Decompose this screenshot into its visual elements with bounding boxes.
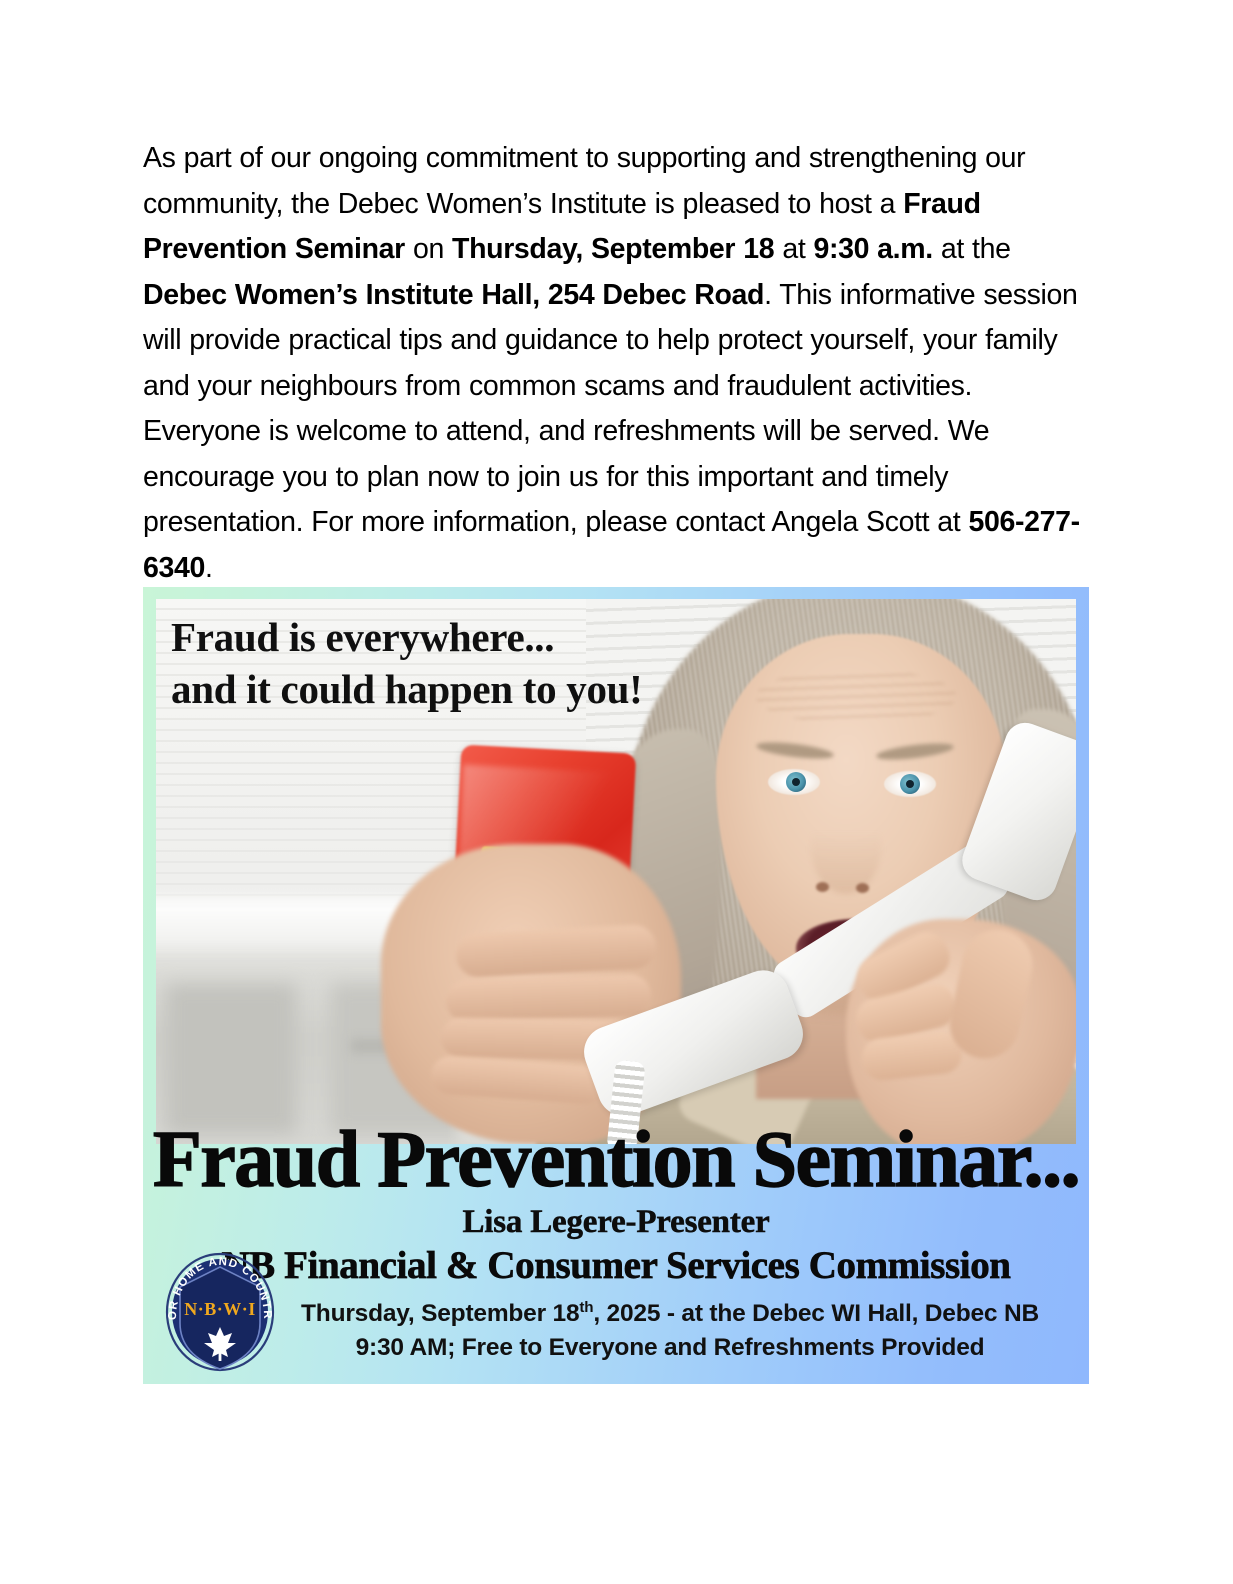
logo-initials: N·B·W·I	[184, 1299, 256, 1319]
poster-event-time-line: 9:30 AM; Free to Everyone and Refreshmen…	[251, 1331, 1089, 1365]
announcement-segment-6: at the	[933, 233, 1011, 265]
poster-presenter: Lisa Legere-Presenter	[143, 1202, 1089, 1242]
pupil-right	[906, 780, 914, 788]
announcement-segment-4: at	[774, 233, 813, 265]
poster-event-date-pre: Thursday, September 18	[301, 1300, 579, 1327]
nbwi-logo: FOR HOME AND COUNTRY N·B·W·I	[164, 1251, 276, 1373]
announcement-segment-7: Debec Women’s Institute Hall, 254 Debec …	[143, 279, 764, 311]
poster-organization: NB Financial & Consumer Services Commiss…	[143, 1243, 1089, 1289]
announcement-segment-2: on	[405, 233, 452, 265]
desk-shelf-opening-left	[166, 984, 296, 1134]
maple-leaf-stem	[219, 1349, 222, 1361]
fraud-prevention-seminar-poster: Fraud is everywhere... and it could happ…	[143, 587, 1089, 1384]
poster-headline-line-2: and it could happen to you!	[171, 663, 771, 715]
finger-middle	[445, 973, 651, 1022]
poster-event-date-post: , 2025 - at the Debec WI Hall, Debec NB	[593, 1300, 1039, 1327]
announcement-segment-0: As part of our ongoing commitment to sup…	[143, 142, 1025, 220]
announcement-segment-5: 9:30 a.m.	[813, 233, 932, 265]
announcement-segment-8: . This informative session will provide …	[143, 279, 1078, 539]
forehead-wrinkles	[756, 669, 956, 724]
poster-title: Fraud Prevention Seminar...	[143, 1116, 1089, 1204]
nose	[811, 799, 881, 894]
nostril-left	[816, 882, 829, 892]
announcement-segment-10: .	[205, 552, 213, 584]
poster-headline: Fraud is everywhere... and it could happ…	[171, 611, 771, 715]
poster-event-details: Thursday, September 18th, 2025 - at the …	[251, 1291, 1089, 1365]
announcement-paragraph: As part of our ongoing commitment to sup…	[143, 136, 1088, 591]
announcement-segment-3: Thursday, September 18	[452, 233, 774, 265]
poster-event-date-ordinal: th	[579, 1299, 593, 1316]
nostril-right	[856, 883, 869, 893]
poster-headline-line-1: Fraud is everywhere...	[171, 614, 554, 660]
pupil-left	[792, 778, 800, 786]
